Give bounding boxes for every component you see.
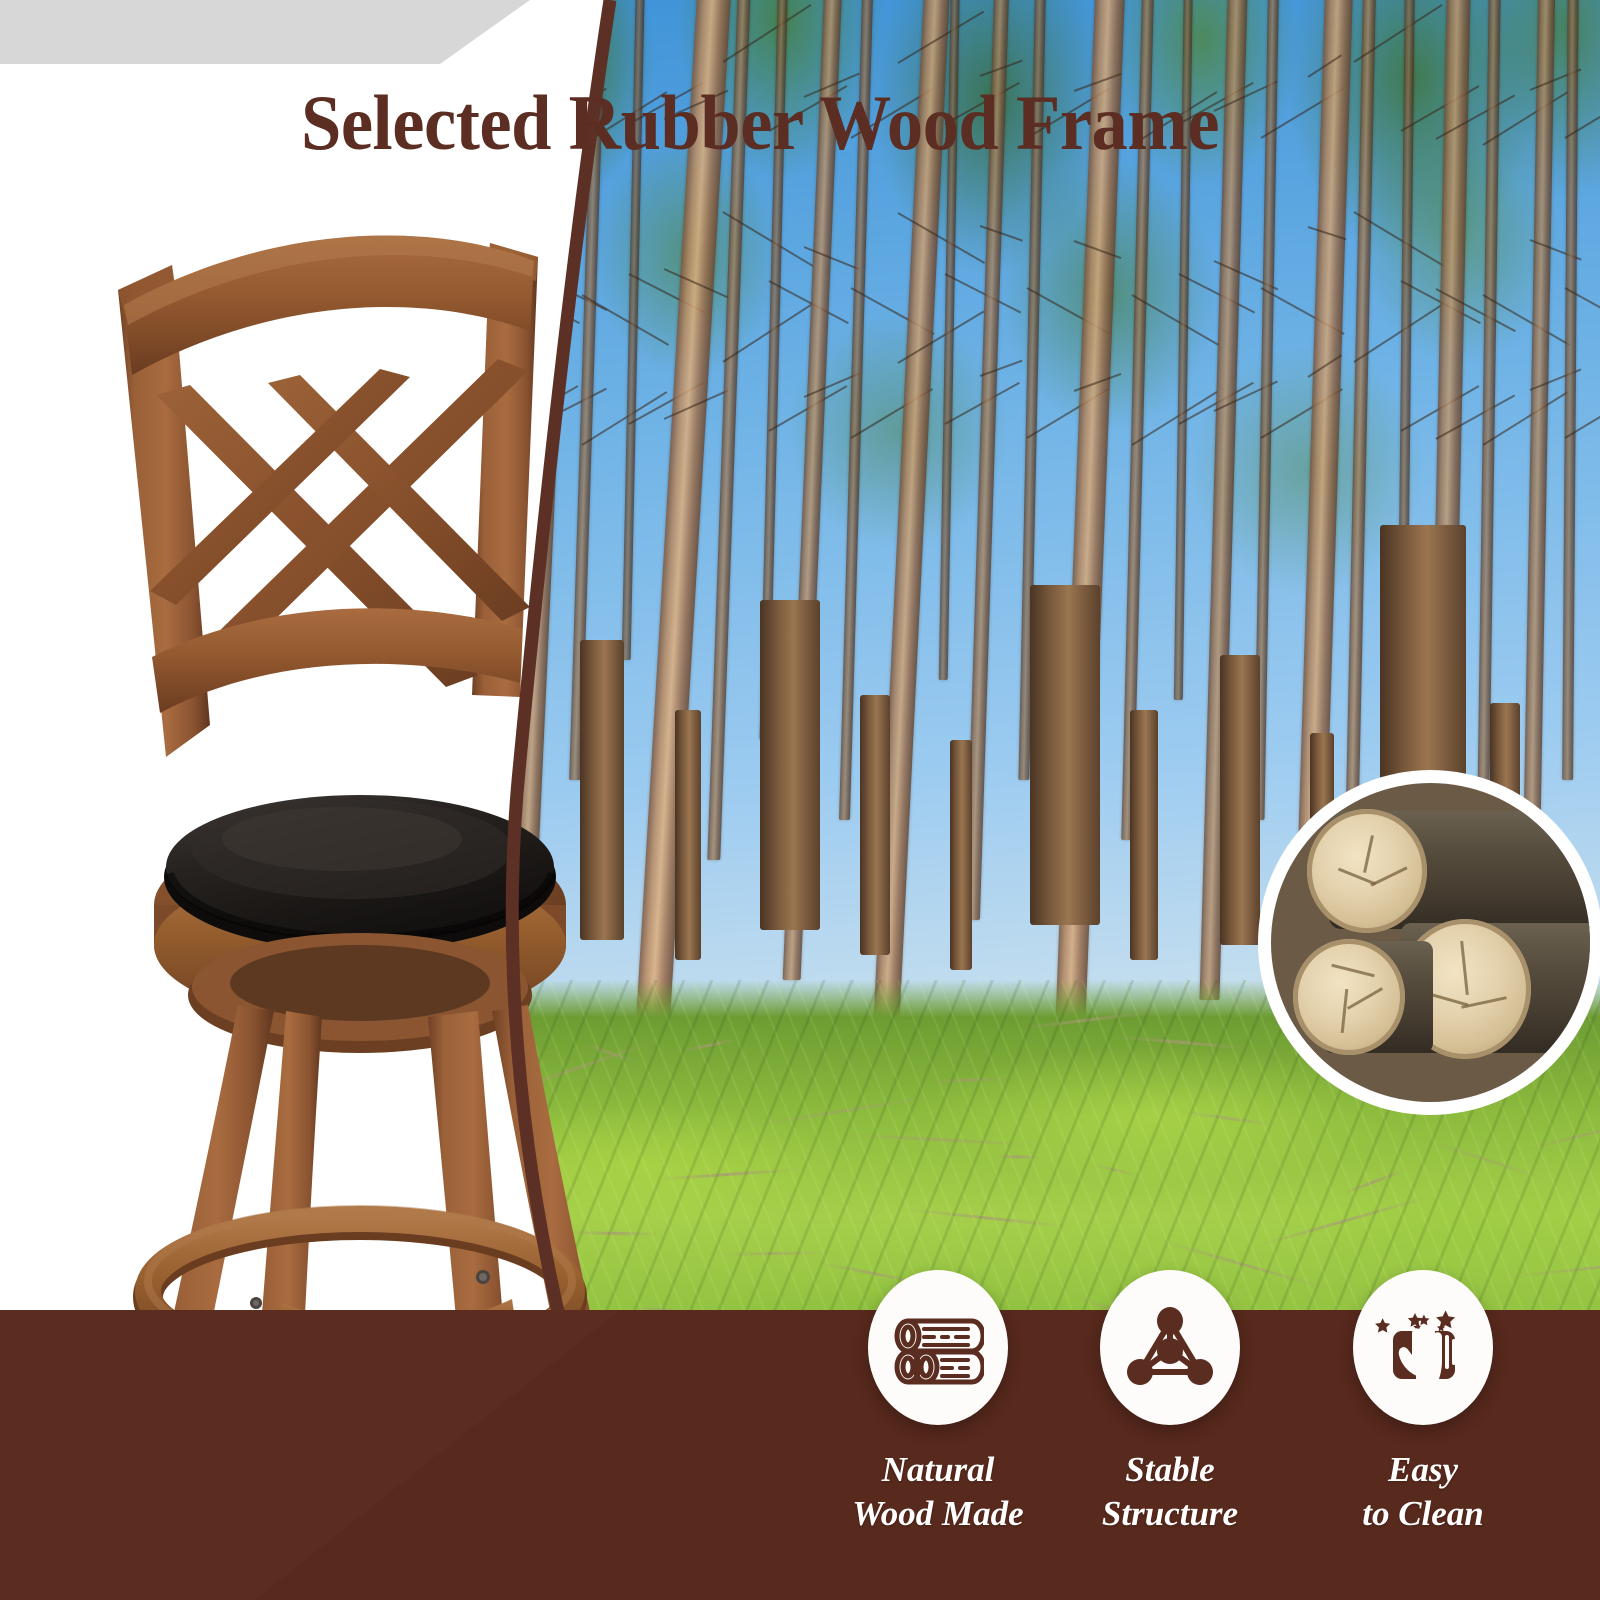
pine-branch [769,280,849,324]
pine-trunk [1562,0,1579,780]
badge-circle [1100,1270,1240,1425]
forest-twig [721,1251,830,1256]
forest-twig [1019,1011,1149,1030]
marketing-banner: Selected Rubber Wood Frame [0,0,1600,1600]
stacked-logs-icon [892,1311,984,1385]
forest-floor-trunk [1130,710,1158,960]
pine-branch [1131,391,1217,446]
forest-floor-trunk [860,695,890,955]
wiping-hand-sparkle-icon [1375,1305,1471,1391]
forest-twig [906,1208,1069,1228]
forest-floor-trunk [675,710,701,960]
forest-floor-trunk [1030,585,1100,925]
forest-twig [1430,1140,1545,1180]
forest-twig [1091,1163,1139,1177]
cut-logs-inset [1258,770,1600,1115]
forest-twig [995,1155,1040,1159]
forest-twig [1340,1168,1405,1196]
forest-twig [841,1133,1040,1146]
molecule-triangle-icon [1126,1306,1214,1390]
forest-twig [656,1168,800,1181]
forest-twig [745,1095,938,1128]
forest-twig [1115,1035,1250,1050]
forest-twig [930,1077,1010,1083]
top-gray-band [0,0,530,64]
pine-branch [1482,391,1568,446]
forest-floor-trunk [1220,655,1260,945]
forest-twig [1526,1118,1600,1151]
feature-label: Easy to Clean [1263,1448,1583,1536]
forest-floor-trunk [760,600,820,930]
pine-branch [1178,273,1255,313]
page-title: Selected Rubber Wood Frame [53,78,1467,168]
forest-floor-trunk [950,740,972,970]
feature-badges-row: Natural Wood Made [0,1260,1600,1600]
forest-twig [1180,1110,1279,1127]
forest-twig [1252,1194,1434,1249]
product-image-bar-stool [60,205,660,1435]
badge-circle [1353,1270,1493,1425]
pine-trunk [1051,0,1126,1120]
forest-twig [680,1038,739,1053]
pine-branch [944,273,1021,313]
badge-circle [868,1270,1008,1425]
